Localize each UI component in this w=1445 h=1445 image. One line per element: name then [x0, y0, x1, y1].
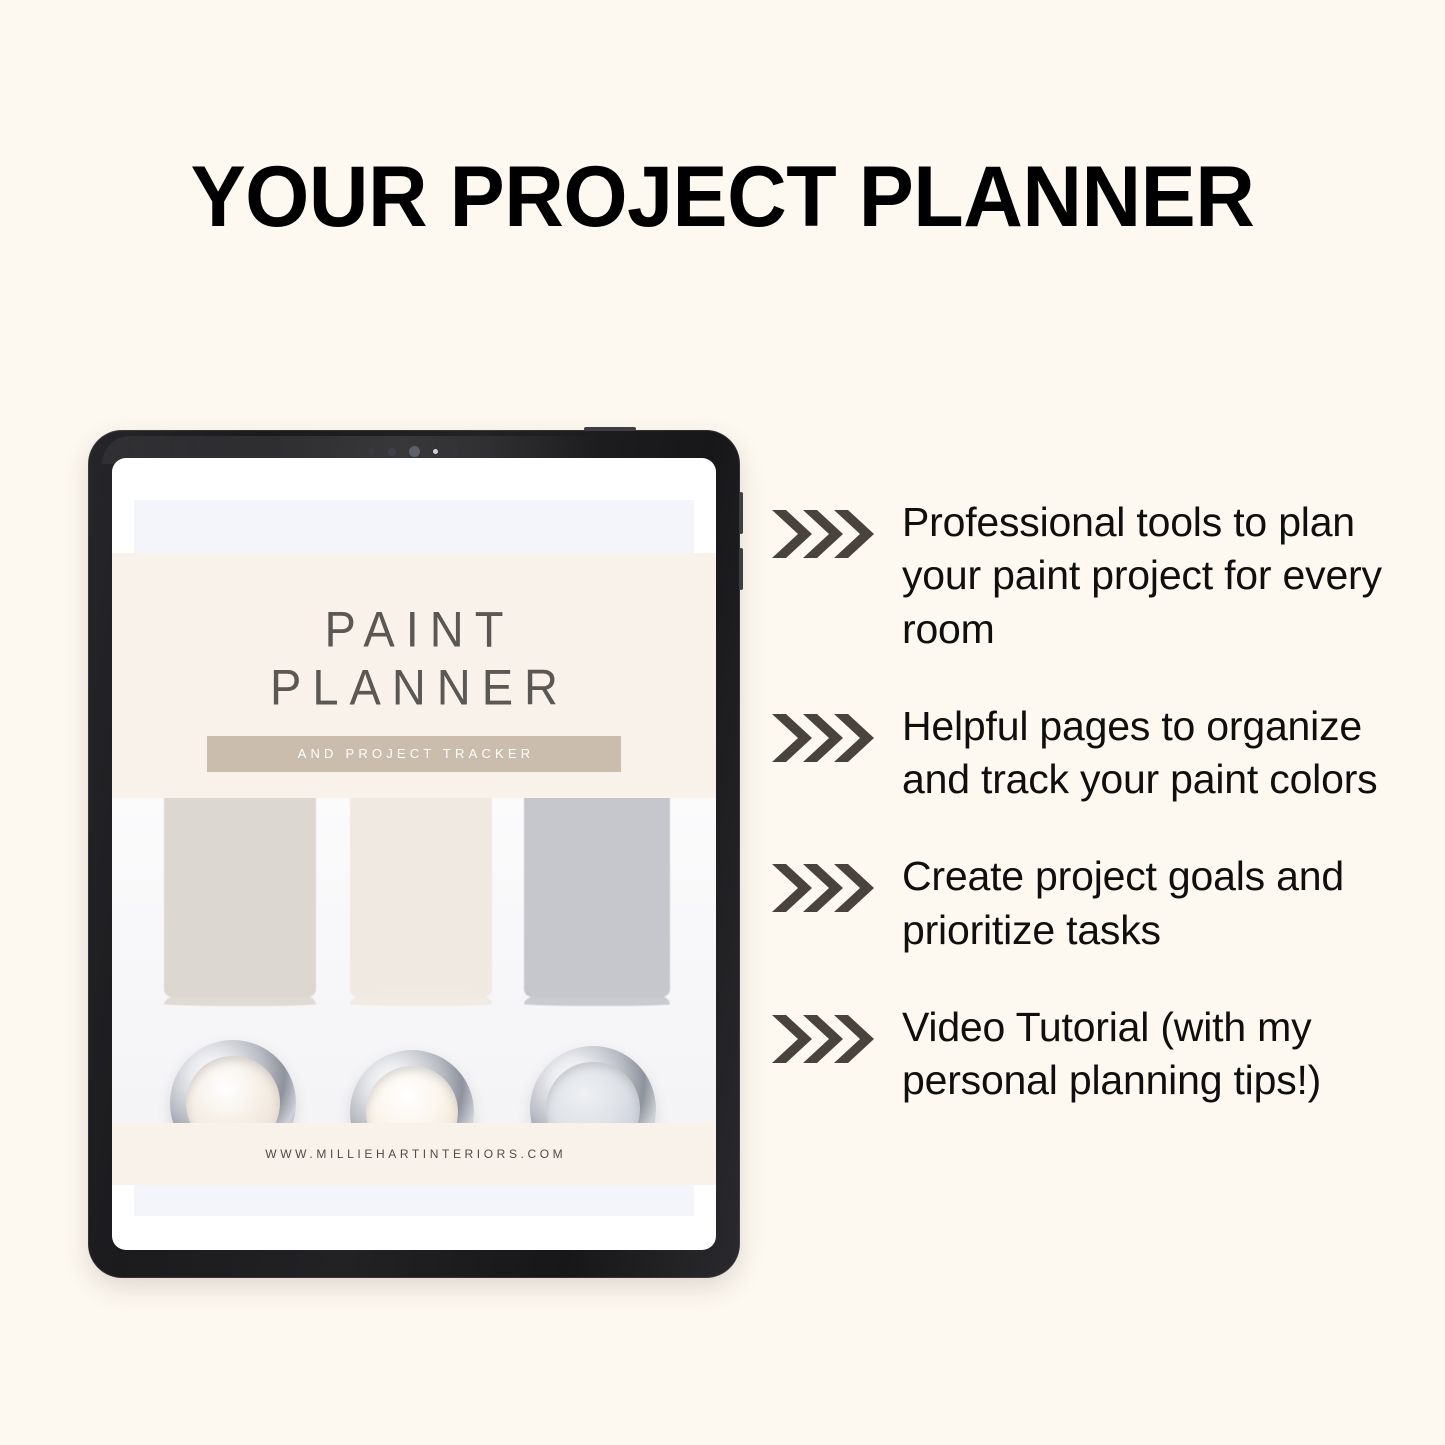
feature-item: Create project goals and prioritize task…	[772, 850, 1402, 957]
cover-subtitle-band: AND PROJECT TRACKER	[207, 736, 621, 772]
paint-can-opening	[366, 1066, 458, 1123]
cover-footer: WWW.MILLIEHARTINTERIORS.COM	[112, 1123, 716, 1185]
cover-subtitle-label: AND PROJECT TRACKER	[294, 746, 535, 761]
feature-text: Professional tools to plan your paint pr…	[876, 496, 1402, 656]
volume-down-button[interactable]	[739, 548, 743, 590]
cover-website-url: WWW.MILLIEHARTINTERIORS.COM	[262, 1147, 567, 1161]
feature-text: Video Tutorial (with my personal plannin…	[876, 1001, 1402, 1108]
paint-can-cream	[350, 1050, 474, 1123]
feature-text: Helpful pages to organize and track your…	[876, 700, 1402, 807]
paint-can-gray	[530, 1046, 656, 1123]
paint-swatch-cream	[350, 798, 492, 997]
feature-item: Video Tutorial (with my personal plannin…	[772, 1001, 1402, 1108]
paint-can-opening	[546, 1062, 639, 1123]
planner-cover-page: PAINT PLANNER AND PROJECT TRACKER	[112, 553, 716, 1185]
cover-header: PAINT PLANNER AND PROJECT TRACKER	[112, 553, 716, 798]
feature-item: Professional tools to plan your paint pr…	[772, 496, 1402, 656]
cover-title-line1: PAINT	[325, 601, 515, 657]
feature-item: Helpful pages to organize and track your…	[772, 700, 1402, 807]
tablet-screen[interactable]: PAINT PLANNER AND PROJECT TRACKER	[112, 458, 716, 1250]
tablet-mockup: PAINT PLANNER AND PROJECT TRACKER	[88, 430, 740, 1278]
paint-can-greige	[170, 1040, 296, 1123]
paint-swatch-greige	[164, 798, 316, 997]
paint-can-opening	[186, 1056, 279, 1123]
cover-title: PAINT PLANNER	[112, 600, 716, 718]
power-button[interactable]	[584, 427, 636, 431]
triple-chevron-right-icon	[772, 506, 876, 562]
feature-list: Professional tools to plan your paint pr…	[772, 496, 1402, 1108]
paint-swatch-gray	[524, 798, 670, 997]
page-title: YOUR PROJECT PLANNER	[29, 148, 1416, 247]
triple-chevron-right-icon	[772, 710, 876, 766]
triple-chevron-right-icon	[772, 1011, 876, 1067]
triple-chevron-right-icon	[772, 860, 876, 916]
volume-up-button[interactable]	[739, 492, 743, 534]
feature-text: Create project goals and prioritize task…	[876, 850, 1402, 957]
cover-photo	[112, 798, 716, 1123]
cover-title-line2: PLANNER	[112, 658, 716, 717]
